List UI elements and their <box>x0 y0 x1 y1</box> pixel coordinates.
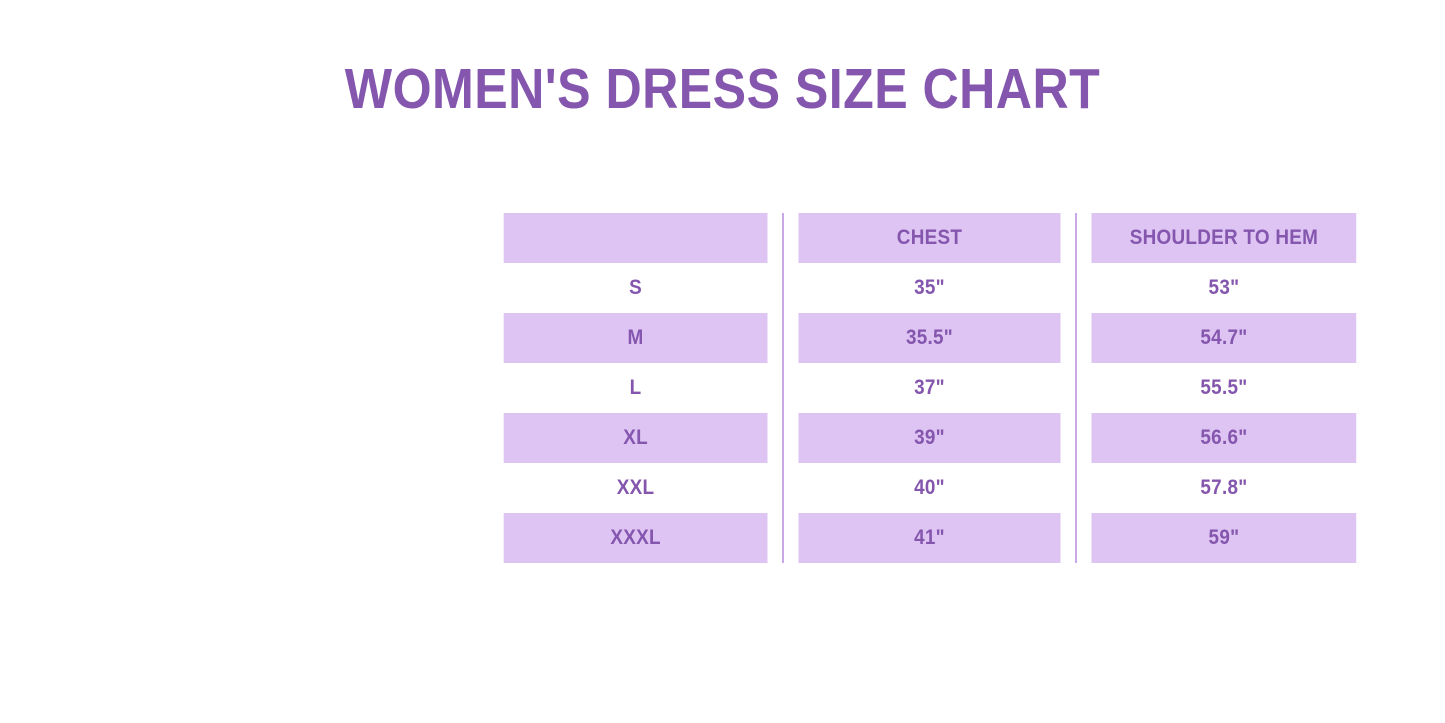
size-chart-table: CHEST SHOULDER TO HEM S 35" 53" M 35.5" … <box>489 213 1371 563</box>
cell-chest: 40" <box>798 463 1062 513</box>
cell-size: L <box>504 363 769 413</box>
table-row: XXL 40" 57.8" <box>489 463 1371 513</box>
cell-chest: 35.5" <box>798 313 1062 363</box>
cell-size: XL <box>504 413 769 463</box>
cell-shoulder-to-hem: 53" <box>1091 263 1357 313</box>
cell-shoulder-to-hem: 56.6" <box>1091 413 1357 463</box>
table-header-row: CHEST SHOULDER TO HEM <box>489 213 1371 263</box>
cell-chest: 41" <box>798 513 1062 563</box>
cell-size: XXL <box>504 463 769 513</box>
cell-shoulder-to-hem: 54.7" <box>1091 313 1357 363</box>
table-row: XL 39" 56.6" <box>489 413 1371 463</box>
cell-shoulder-to-hem: 59" <box>1091 513 1357 563</box>
table-row: S 35" 53" <box>489 263 1371 313</box>
cell-chest: 37" <box>798 363 1062 413</box>
cell-size: M <box>504 313 769 363</box>
cell-shoulder-to-hem: 55.5" <box>1091 363 1357 413</box>
cell-chest: 39" <box>798 413 1062 463</box>
table-row: XXXL 41" 59" <box>489 513 1371 563</box>
cell-chest: 35" <box>798 263 1062 313</box>
cell-size: S <box>504 263 769 313</box>
column-header-chest: CHEST <box>798 213 1062 263</box>
column-header-size <box>504 213 769 263</box>
table-row: L 37" 55.5" <box>489 363 1371 413</box>
cell-shoulder-to-hem: 57.8" <box>1091 463 1357 513</box>
column-header-shoulder-to-hem: SHOULDER TO HEM <box>1091 213 1357 263</box>
table-row: M 35.5" 54.7" <box>489 313 1371 363</box>
page-title: WOMEN'S DRESS SIZE CHART <box>87 55 1359 123</box>
cell-size: XXXL <box>504 513 769 563</box>
